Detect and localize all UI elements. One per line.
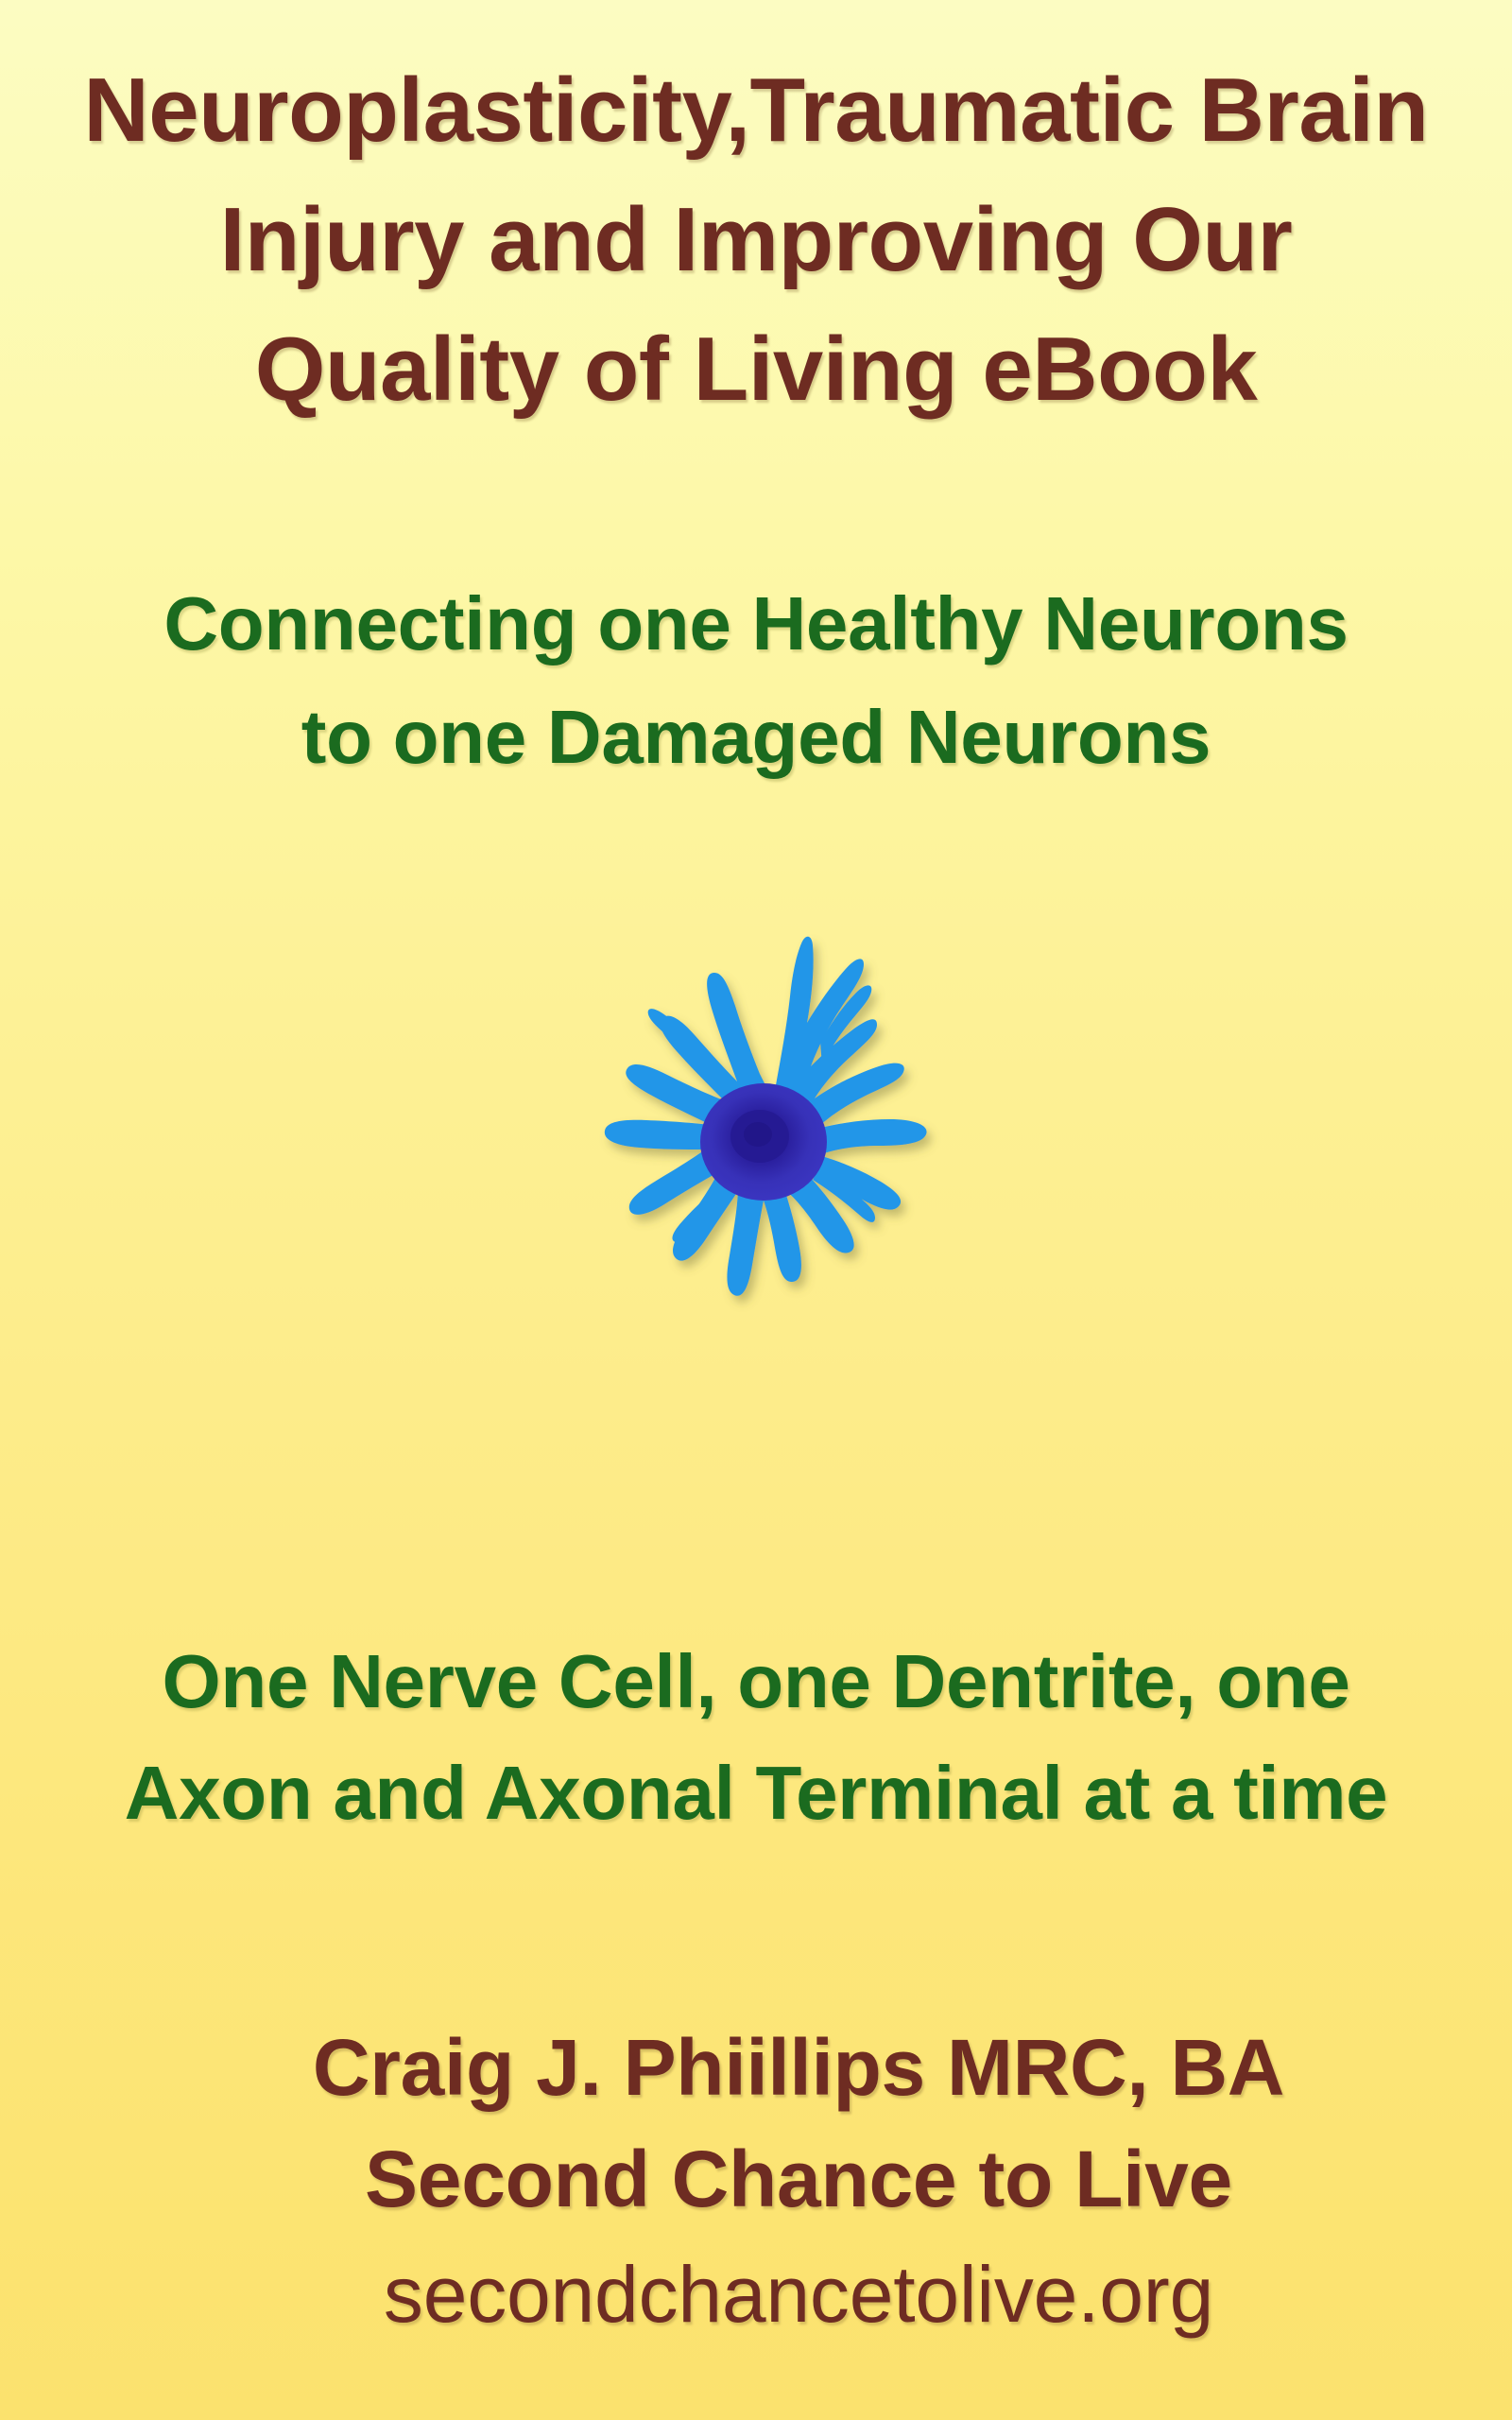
subtitle-line-1: Connecting one Healthy Neurons — [0, 567, 1512, 681]
neuron-nucleus-group — [700, 1083, 827, 1201]
dendrite-branch-left-tip — [626, 1128, 705, 1140]
book-cover: Neuroplasticity,Traumatic Brain Injury a… — [0, 0, 1512, 2420]
cover-subtitle: Connecting one Healthy Neurons to one Da… — [0, 567, 1512, 794]
author-website: secondchancetolive.org — [123, 2235, 1474, 2354]
title-line-1: Neuroplasticity,Traumatic Brain — [0, 45, 1512, 175]
tagline-line-2: Axon and Axonal Terminal at a time — [0, 1737, 1512, 1849]
author-block: Craig J. Phiillips MRC, BA Second Chance… — [0, 2012, 1474, 2354]
nucleolus — [744, 1122, 772, 1147]
author-organization: Second Chance to Live — [123, 2123, 1474, 2235]
author-name: Craig J. Phiillips MRC, BA — [123, 2012, 1474, 2123]
title-line-3: Quality of Living eBook — [0, 304, 1512, 434]
title-line-2: Injury and Improving Our — [0, 175, 1512, 304]
tagline-line-1: One Nerve Cell, one Dentrite, one — [0, 1626, 1512, 1737]
cover-tagline: One Nerve Cell, one Dentrite, one Axon a… — [0, 1626, 1512, 1849]
subtitle-line-2: to one Damaged Neurons — [0, 681, 1512, 794]
neuron-cell-illustration — [507, 898, 1036, 1484]
cover-title: Neuroplasticity,Traumatic Brain Injury a… — [0, 45, 1512, 434]
